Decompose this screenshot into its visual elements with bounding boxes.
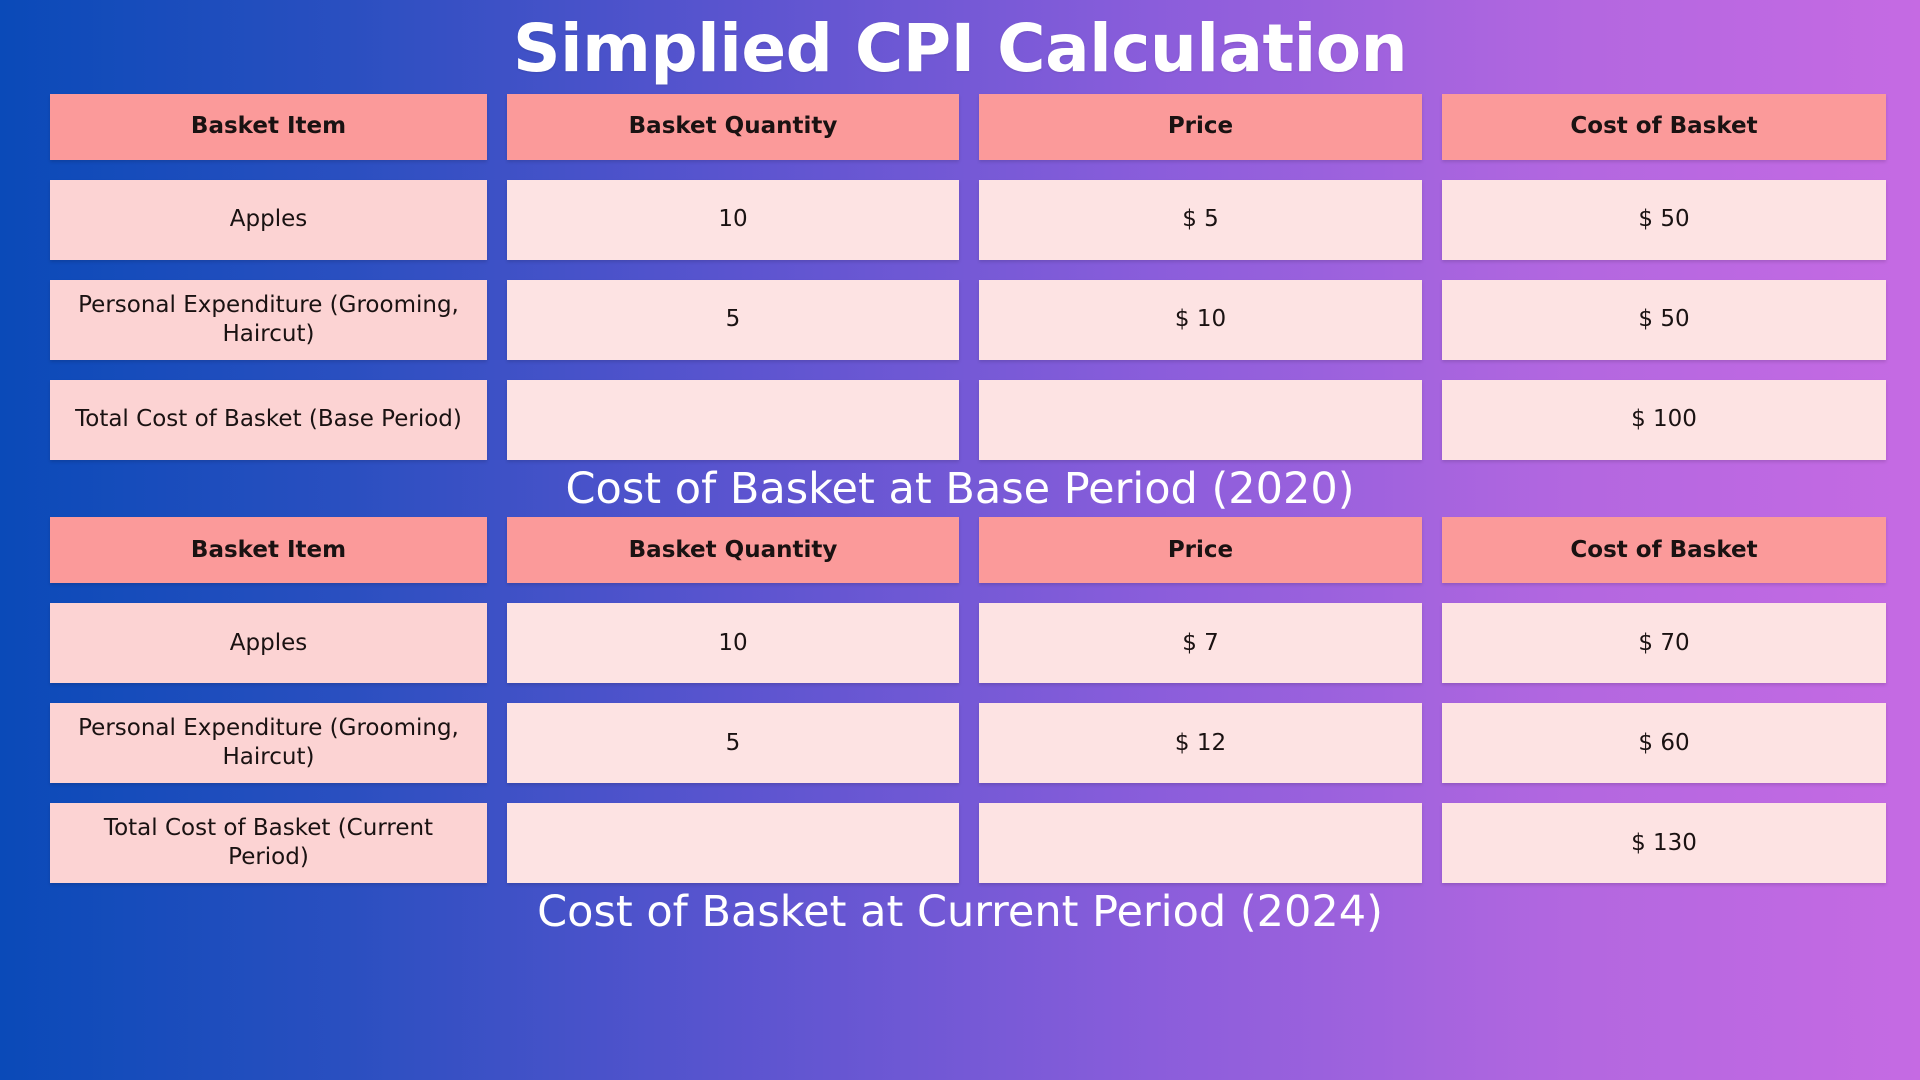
table-grid: Basket Item Basket Quantity Price Cost o… bbox=[50, 94, 1870, 460]
table-row-total bbox=[979, 803, 1422, 883]
table-row-total: $ 100 bbox=[1442, 380, 1886, 460]
table-row: 10 bbox=[507, 180, 959, 260]
column-header-basket-item: Basket Item bbox=[50, 517, 487, 583]
column-header-cost-of-basket: Cost of Basket bbox=[1442, 94, 1886, 160]
table-row: $ 70 bbox=[1442, 603, 1886, 683]
column-header-basket-item: Basket Item bbox=[50, 94, 487, 160]
table-row: $ 12 bbox=[979, 703, 1422, 783]
table-row: Personal Expenditure (Grooming, Haircut) bbox=[50, 280, 487, 360]
table-row: $ 7 bbox=[979, 603, 1422, 683]
table-row-total: Total Cost of Basket (Current Period) bbox=[50, 803, 487, 883]
table-row: 5 bbox=[507, 280, 959, 360]
table-row: $ 50 bbox=[1442, 180, 1886, 260]
table-row: $ 5 bbox=[979, 180, 1422, 260]
table-row: 10 bbox=[507, 603, 959, 683]
column-header-basket-quantity: Basket Quantity bbox=[507, 517, 959, 583]
table-row: $ 50 bbox=[1442, 280, 1886, 360]
table-current-period: Basket Item Basket Quantity Price Cost o… bbox=[50, 517, 1870, 883]
table-row: Apples bbox=[50, 603, 487, 683]
table-row: 5 bbox=[507, 703, 959, 783]
table-row-total bbox=[507, 803, 959, 883]
table-row-total bbox=[979, 380, 1422, 460]
table-base-period: Basket Item Basket Quantity Price Cost o… bbox=[50, 94, 1870, 460]
table-caption-current-period: Cost of Basket at Current Period (2024) bbox=[0, 883, 1920, 940]
table-row-total: Total Cost of Basket (Base Period) bbox=[50, 380, 487, 460]
table-row: $ 10 bbox=[979, 280, 1422, 360]
slide-root: Simplied CPI Calculation Basket Item Bas… bbox=[0, 0, 1920, 1080]
table-grid: Basket Item Basket Quantity Price Cost o… bbox=[50, 517, 1870, 883]
table-row: $ 60 bbox=[1442, 703, 1886, 783]
table-row: Apples bbox=[50, 180, 487, 260]
column-header-cost-of-basket: Cost of Basket bbox=[1442, 517, 1886, 583]
column-header-basket-quantity: Basket Quantity bbox=[507, 94, 959, 160]
column-header-price: Price bbox=[979, 517, 1422, 583]
table-row-total bbox=[507, 380, 959, 460]
table-caption-base-period: Cost of Basket at Base Period (2020) bbox=[0, 460, 1920, 517]
column-header-price: Price bbox=[979, 94, 1422, 160]
table-row-total: $ 130 bbox=[1442, 803, 1886, 883]
page-title: Simplied CPI Calculation bbox=[0, 0, 1920, 94]
table-row: Personal Expenditure (Grooming, Haircut) bbox=[50, 703, 487, 783]
